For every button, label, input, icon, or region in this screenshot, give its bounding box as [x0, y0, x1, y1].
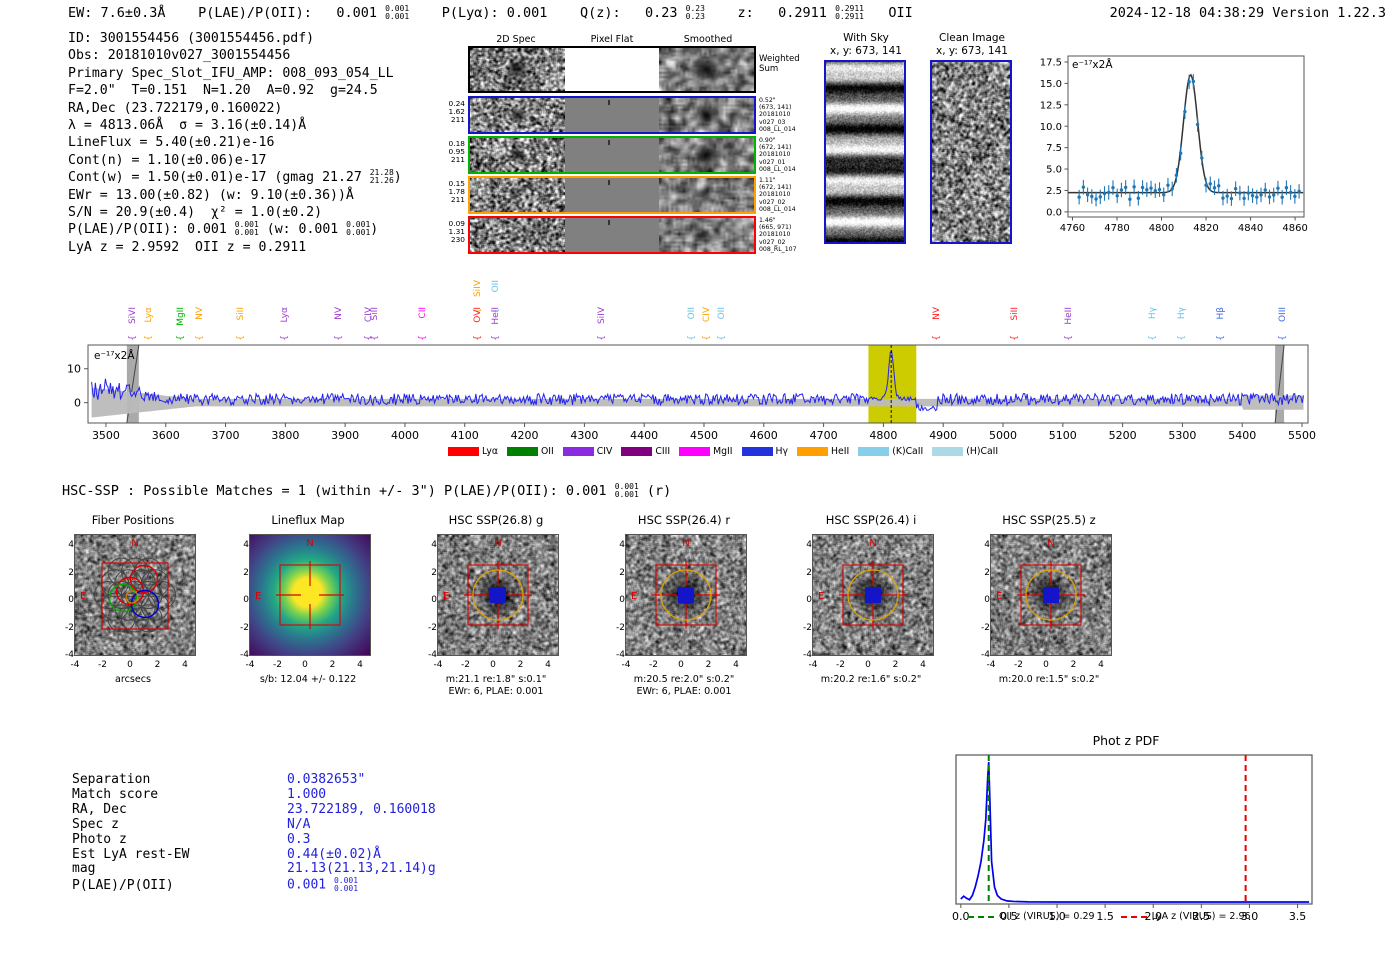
cutout-xtick: 2	[703, 660, 715, 670]
photz-pdf-panel: Phot z PDF 0.00.51.01.52.02.53.03.5 OII …	[932, 733, 1320, 948]
cutout-ytick: 4	[423, 540, 437, 550]
header-plya: P(Lyα): 0.001	[442, 5, 548, 21]
info-line-lineflux: LineFlux = 5.40(±0.21)e-16	[68, 134, 402, 151]
hsc-headline: HSC-SSP : Possible Matches = 1 (within +…	[62, 483, 671, 499]
spec2d-row-left-labels: 0.151.78211	[428, 180, 465, 204]
cutout-xtick: -2	[1013, 660, 1025, 670]
emission-line-label: NV	[195, 307, 205, 320]
spec2d-montage: 2D Spec Pixel Flat Smoothed Weighted Sum…	[428, 34, 773, 254]
cutout-ytick: 2	[423, 568, 437, 578]
cutout-xtick: 0	[124, 660, 136, 670]
col-header-2dspec: 2D Spec	[468, 34, 564, 45]
photz-title: Phot z PDF	[932, 733, 1320, 748]
header-z-value: 0.2911	[778, 5, 827, 21]
cutout-xtick: -2	[835, 660, 847, 670]
svg-text:4600: 4600	[750, 429, 778, 442]
cutout-ytick: -4	[798, 650, 812, 660]
header-plae-value: 0.001	[336, 5, 377, 21]
emission-line-label: MgII	[176, 307, 186, 326]
emission-line-label: Hγ	[1177, 307, 1187, 319]
emission-line-bracket-icon: {	[932, 335, 942, 341]
emission-line-bracket-icon: {	[280, 335, 290, 341]
cutout-xtick: -2	[648, 660, 660, 670]
cutout-image[interactable]	[625, 534, 747, 656]
match-table-key: P(LAE)/P(OII)	[72, 879, 287, 894]
svg-text:5500: 5500	[1288, 429, 1316, 442]
legend-item: CIV	[563, 446, 613, 457]
panel-caption: m:20.5 re:2.0" s:0.2"EWr: 6, PLAE: 0.001	[603, 674, 765, 698]
legend-item: Hγ	[742, 446, 789, 457]
match-table-row: P(LAE)/P(OII)0.001 0.0010.001	[72, 877, 436, 893]
col-header-smoothed: Smoothed	[660, 34, 756, 45]
header-plae-range: 0.0010.001	[385, 5, 409, 21]
match-table-row: Est LyA rest-EW0.44(±0.02)Å	[72, 848, 436, 863]
emission-line-label: SiII	[236, 307, 246, 321]
cutout-xtick: -2	[460, 660, 472, 670]
match-table-value: 23.722189, 0.160018	[287, 802, 436, 817]
legend-swatch	[621, 447, 652, 456]
emission-line-bracket-icon: {	[687, 335, 697, 341]
cutout-xtick: 0	[862, 660, 874, 670]
legend-item: (K)CaII	[858, 446, 923, 457]
photz-legend-label: LyA z (VIRUS) = 2.96	[1152, 911, 1251, 922]
photz-legend-item: OII z (VIRUS) = 0.29	[968, 911, 1095, 922]
spec2d-row[interactable]	[468, 216, 756, 254]
cutout-xtick: 4	[179, 660, 191, 670]
match-table-value: 0.001	[287, 878, 334, 893]
match-table-key: mag	[72, 862, 287, 877]
match-table-key: Est LyA rest-EW	[72, 848, 287, 863]
info-line-id: ID: 3001554456 (3001554456.pdf)	[68, 30, 402, 47]
cutout-xtick: 4	[354, 660, 366, 670]
panel-title: HSC SSP(26.4) i	[800, 513, 942, 527]
header-qz-label: Q(z):	[580, 5, 621, 21]
match-table-row: mag21.13(21.13,21.14)g	[72, 862, 436, 877]
svg-text:e⁻¹⁷x2Å: e⁻¹⁷x2Å	[94, 349, 135, 362]
svg-text:4800: 4800	[869, 429, 897, 442]
emission-line-bracket-icon: {	[144, 335, 154, 341]
panel-caption: m:20.2 re:1.6" s:0.2"	[790, 674, 952, 686]
spec2d-row-left-labels: 0.180.95211	[428, 140, 465, 164]
match-table-key: Spec z	[72, 818, 287, 833]
cutout-ytick: 4	[235, 540, 249, 550]
cutout-ytick: 2	[976, 568, 990, 578]
header-qz-range: 0.230.23	[686, 5, 705, 21]
panel-title: HSC SSP(26.8) g	[425, 513, 567, 527]
svg-text:4500: 4500	[690, 429, 718, 442]
legend-label: CIII	[655, 446, 670, 457]
info-line-ewr: EWr = 13.00(±0.82) (w: 9.10(±0.36))Å	[68, 187, 402, 204]
svg-text:3500: 3500	[92, 429, 120, 442]
svg-text:10: 10	[67, 363, 81, 376]
legend-item: (H)CaII	[932, 446, 998, 457]
cutout-ytick: 0	[423, 595, 437, 605]
svg-text:15.0: 15.0	[1040, 79, 1062, 90]
panel-caption: s/b: 12.04 +/- 0.122	[227, 674, 389, 686]
emission-line-label: OII	[717, 307, 727, 319]
spec2d-cell-raw	[470, 138, 565, 172]
cutout-xtick: -2	[97, 660, 109, 670]
spec2d-cell-pixelflat	[565, 138, 660, 172]
emission-line-bracket-icon: {	[1010, 335, 1020, 341]
withsky-cutout[interactable]	[824, 60, 906, 244]
legend-swatch	[563, 447, 594, 456]
cutout-ytick: 2	[798, 568, 812, 578]
cutout-xtick: -4	[69, 660, 81, 670]
match-table-value: 0.44(±0.02)Å	[287, 847, 381, 862]
svg-text:4820: 4820	[1193, 223, 1218, 234]
emission-line-bracket-icon: {	[597, 335, 607, 341]
spec2d-row[interactable]	[468, 136, 756, 174]
emission-line-bracket-icon: {	[717, 335, 727, 341]
cutout-ytick: 0	[611, 595, 625, 605]
info-line-redshifts: LyA z = 2.9592 OII z = 0.2911	[68, 239, 402, 256]
svg-text:e⁻¹⁷x2Å: e⁻¹⁷x2Å	[1072, 58, 1113, 71]
legend-swatch	[507, 447, 538, 456]
emission-line-label: Lyα	[144, 307, 154, 322]
spec2d-cell-smoothed	[659, 98, 754, 132]
match-table-key: Match score	[72, 788, 287, 803]
cutout-ytick: -4	[611, 650, 625, 660]
photz-legend: OII z (VIRUS) = 0.29LyA z (VIRUS) = 2.96	[968, 911, 1251, 922]
cutout-xtick: 0	[299, 660, 311, 670]
panel-title: Fiber Positions	[62, 513, 204, 527]
svg-text:3.5: 3.5	[1289, 910, 1307, 923]
photz-legend-dash	[1121, 916, 1147, 918]
info-line-params: F=2.0" T=0.151 N=1.20 A=0.92 g=24.5	[68, 82, 402, 99]
emission-line-label: HeII	[491, 307, 501, 325]
legend-swatch	[797, 447, 828, 456]
full-spectrum-plot[interactable]: 0103500360037003800390040004100420043004…	[0, 275, 1400, 465]
cutout-xtick: -4	[432, 660, 444, 670]
cutout-ytick: 4	[976, 540, 990, 550]
spec2d-row[interactable]	[468, 176, 756, 214]
emission-line-label: SiIV	[473, 280, 483, 297]
match-table-value: 21.13(21.13,21.14)g	[287, 861, 436, 876]
emission-line-label: NV	[334, 307, 344, 320]
spec2d-cell-pixelflat	[565, 98, 660, 132]
spec2d-cell-raw	[470, 98, 565, 132]
emission-line-bracket-icon: {	[1064, 335, 1074, 341]
cutout-ytick: -4	[423, 650, 437, 660]
panel-title: HSC SSP(26.4) r	[613, 513, 755, 527]
spec2d-row-left-labels: 0.241.62211	[428, 100, 465, 124]
svg-text:0.0: 0.0	[952, 910, 970, 923]
emission-line-bracket-icon: {	[364, 335, 374, 341]
svg-text:4900: 4900	[929, 429, 957, 442]
cutout-xtick: 0	[487, 660, 499, 670]
info-line-obs: Obs: 20181010v027_3001554456	[68, 47, 402, 64]
match-table-key: Photo z	[72, 833, 287, 848]
emission-line-label: CIV	[702, 307, 712, 322]
source-info-block: ID: 3001554456 (3001554456.pdf) Obs: 201…	[68, 30, 402, 256]
cleanimage-title: Clean Imagex, y: 673, 141	[924, 32, 1020, 57]
spec2d-row-right-labels: 1.11"(672, 141)20181010v027_02008_LL_014	[759, 177, 829, 213]
cutout-ytick: -4	[976, 650, 990, 660]
cutout-xtick: 4	[542, 660, 554, 670]
svg-text:3800: 3800	[271, 429, 299, 442]
spec2d-cell-raw	[470, 218, 565, 252]
svg-text:0.0: 0.0	[1046, 207, 1062, 218]
svg-text:2.5: 2.5	[1046, 186, 1062, 197]
emission-line-bracket-icon: {	[491, 335, 501, 341]
spec2d-cell-smoothed	[659, 138, 754, 172]
panel-caption: arcsecs	[52, 674, 214, 686]
svg-text:4860: 4860	[1282, 223, 1307, 234]
info-line-plae: P(LAE)/P(OII): 0.001 0.0010.001 (w: 0.00…	[68, 221, 402, 238]
legend-label: Lyα	[482, 446, 498, 457]
svg-text:17.5: 17.5	[1040, 58, 1062, 69]
panel-title: HSC SSP(25.5) z	[978, 513, 1120, 527]
cutout-xtick: -4	[807, 660, 819, 670]
legend-swatch	[679, 447, 710, 456]
legend-label: HeII	[831, 446, 849, 457]
cutout-ytick: 4	[798, 540, 812, 550]
cutout-xtick: 4	[730, 660, 742, 670]
match-table-key: RA, Dec	[72, 803, 287, 818]
emission-line-label: OIII	[1278, 307, 1288, 322]
emission-line-bracket-icon: {	[1148, 335, 1158, 341]
cleanimage-cutout[interactable]	[930, 60, 1012, 244]
emission-line-bracket-icon: {	[236, 335, 246, 341]
info-line-contw: Cont(w) = 1.50(±0.01)e-17 (gmag 21.27 21…	[68, 169, 402, 186]
info-line-radec: RA,Dec (23.722179,0.160022)	[68, 100, 402, 117]
cutout-ytick: 0	[798, 595, 812, 605]
spec2d-cell-pixelflat	[565, 218, 660, 252]
emission-line-label: HeII	[1064, 307, 1074, 325]
svg-text:5200: 5200	[1109, 429, 1137, 442]
svg-text:7.5: 7.5	[1046, 143, 1062, 154]
cutout-xtick: 4	[917, 660, 929, 670]
line-profile-plot[interactable]: 17.515.012.510.07.55.02.50.0476047804800…	[1022, 42, 1312, 247]
header-z-label: z:	[737, 5, 753, 21]
cutout-image[interactable]	[990, 534, 1112, 656]
weighted-sum-label: Weighted Sum	[759, 54, 800, 74]
emission-line-label: Hγ	[1148, 307, 1158, 319]
legend-item: MgII	[679, 446, 732, 457]
legend-swatch	[448, 447, 479, 456]
legend-item: CIII	[621, 446, 670, 457]
emission-line-label: CIV	[364, 307, 374, 322]
svg-text:0: 0	[74, 397, 81, 410]
panel-caption: m:20.0 re:1.5" s:0.2"	[968, 674, 1130, 686]
svg-text:3900: 3900	[331, 429, 359, 442]
cutout-xtick: -4	[620, 660, 632, 670]
cutout-ytick: -2	[60, 623, 74, 633]
spec2d-cell-smoothed	[659, 178, 754, 212]
match-table-row: Match score1.000	[72, 788, 436, 803]
emission-line-bracket-icon: {	[334, 335, 344, 341]
svg-text:5100: 5100	[1049, 429, 1077, 442]
emission-line-bracket-icon: {	[128, 335, 138, 341]
photz-pdf-chart[interactable]: 0.00.51.01.52.02.53.03.5	[932, 747, 1320, 932]
cutout-ytick: 0	[60, 595, 74, 605]
svg-text:4000: 4000	[391, 429, 419, 442]
emission-line-label: OII	[687, 307, 697, 319]
cutout-image[interactable]	[74, 534, 196, 656]
emission-line-bracket-icon: {	[1216, 335, 1226, 341]
emission-line-bracket-icon: {	[176, 335, 186, 341]
cutout-xtick: 2	[515, 660, 527, 670]
emission-line-label: CII	[418, 307, 428, 319]
withsky-title: With Skyx, y: 673, 141	[818, 32, 914, 57]
emission-line-label: NV	[932, 307, 942, 320]
photz-legend-label: OII z (VIRUS) = 0.29	[999, 911, 1095, 922]
match-table-row: Photo z0.3	[72, 833, 436, 848]
legend-item: HeII	[797, 446, 849, 457]
cutout-ytick: 2	[235, 568, 249, 578]
spec2d-cell-pixelflat	[565, 178, 660, 212]
svg-text:3700: 3700	[212, 429, 240, 442]
header-ew: EW: 7.6±0.3Å	[68, 5, 166, 21]
legend-swatch	[858, 447, 889, 456]
panel-caption: m:21.1 re:1.8" s:0.1"EWr: 6, PLAE: 0.001	[415, 674, 577, 698]
match-table-value: 1.000	[287, 787, 326, 802]
match-table-row: Separation0.0382653"	[72, 773, 436, 788]
svg-text:4760: 4760	[1060, 223, 1085, 234]
cutout-xtick: 4	[1095, 660, 1107, 670]
emission-line-label: Hβ	[1216, 307, 1226, 320]
svg-text:4800: 4800	[1149, 223, 1174, 234]
emission-line-label: Lyα	[280, 307, 290, 322]
cutout-ytick: 4	[611, 540, 625, 550]
cutout-ytick: 0	[235, 595, 249, 605]
emission-line-label: SiVI	[128, 307, 138, 324]
emission-line-label: SiII	[1010, 307, 1020, 321]
weighted-sum-strip	[468, 46, 756, 93]
svg-text:4400: 4400	[630, 429, 658, 442]
match-table-value: 0.3	[287, 832, 310, 847]
cutout-xtick: 2	[890, 660, 902, 670]
cutout-ytick: -4	[60, 650, 74, 660]
match-table-value: N/A	[287, 817, 310, 832]
emission-line-bracket-icon: {	[473, 335, 483, 341]
legend-label: MgII	[713, 446, 732, 457]
cutout-xtick: -2	[272, 660, 284, 670]
spec2d-row-right-labels: 0.52"(673, 141)20181010v027_03008_LL_014	[759, 97, 829, 133]
match-table-value: 0.0382653"	[287, 772, 365, 787]
spec2d-row-left-labels: 0.091.31230	[428, 220, 465, 244]
cutout-xtick: 0	[675, 660, 687, 670]
cutout-ytick: 2	[60, 568, 74, 578]
cutout-ytick: 4	[60, 540, 74, 550]
cutout-ytick: 0	[976, 595, 990, 605]
timestamp-version: 2024-12-18 04:38:29 Version 1.22.3	[1110, 5, 1386, 21]
svg-text:4300: 4300	[570, 429, 598, 442]
header-z-species: OII	[888, 5, 912, 21]
legend-label: (K)CaII	[892, 446, 923, 457]
cutout-ytick: 2	[611, 568, 625, 578]
emission-line-bracket-icon: {	[702, 335, 712, 341]
cutout-xtick: -4	[244, 660, 256, 670]
svg-text:4100: 4100	[451, 429, 479, 442]
svg-text:4780: 4780	[1104, 223, 1129, 234]
svg-text:4840: 4840	[1238, 223, 1263, 234]
info-line-sn: S/N = 20.9(±0.4) χ² = 1.0(±0.2)	[68, 204, 402, 221]
svg-text:5300: 5300	[1168, 429, 1196, 442]
emission-line-bracket-icon: {	[418, 335, 428, 341]
legend-item: OII	[507, 446, 554, 457]
emission-line-bracket-icon: {	[1278, 335, 1288, 341]
col-header-pixelflat: Pixel Flat	[564, 34, 660, 45]
cutout-image[interactable]	[249, 534, 371, 656]
spec2d-row-right-labels: 0.90"(672, 141)20181010v027_01008_LL_014	[759, 137, 829, 173]
match-table-row: Spec zN/A	[72, 818, 436, 833]
match-table-row: RA, Dec23.722189, 0.160018	[72, 803, 436, 818]
cutout-xtick: 2	[152, 660, 164, 670]
cutout-xtick: 2	[327, 660, 339, 670]
svg-text:3600: 3600	[152, 429, 180, 442]
header-qz-value: 0.23	[645, 5, 678, 21]
svg-text:5.0: 5.0	[1046, 165, 1062, 176]
legend-label: OII	[541, 446, 554, 457]
legend-item: Lyα	[448, 446, 498, 457]
info-line-lambda: λ = 4813.06Å σ = 3.16(±0.14)Å	[68, 117, 402, 134]
svg-text:5000: 5000	[989, 429, 1017, 442]
legend-label: (H)CaII	[966, 446, 998, 457]
header-summary-line: EW: 7.6±0.3Å P(LAE)/P(OII): 0.001 0.0010…	[68, 5, 913, 21]
svg-text:12.5: 12.5	[1040, 100, 1062, 111]
full-spectrum-panel: SiVI{Lyα{MgII{NV{SiII{Lyα{NV{SiII{CIV{CI…	[0, 275, 1400, 465]
legend-swatch	[932, 447, 963, 456]
cutout-ytick: -2	[611, 623, 625, 633]
spectrum-legend: LyαOIICIVCIIIMgIIHγHeII(K)CaII(H)CaII	[448, 446, 998, 457]
emission-line-bracket-icon: {	[1177, 335, 1187, 341]
emission-line-bracket-icon: {	[195, 335, 205, 341]
panel-title: Lineflux Map	[237, 513, 379, 527]
spec2d-row-right-labels: 1.46"(665, 971)20181010v027_02008_RL_107	[759, 217, 829, 253]
legend-label: CIV	[597, 446, 613, 457]
info-line-specslot: Primary Spec_Slot_IFU_AMP: 008_093_054_L…	[68, 65, 402, 82]
emission-line-label: OVI	[473, 307, 483, 323]
spec2d-cell-smoothed	[659, 218, 754, 252]
svg-text:4200: 4200	[511, 429, 539, 442]
spec2d-row[interactable]	[468, 96, 756, 134]
cutout-image[interactable]	[812, 534, 934, 656]
photz-legend-item: LyA z (VIRUS) = 2.96	[1121, 911, 1251, 922]
cutout-ytick: -2	[235, 623, 249, 633]
legend-label: Hγ	[776, 446, 789, 457]
emission-line-label: OII	[491, 280, 501, 292]
svg-text:10.0: 10.0	[1040, 122, 1062, 133]
header-plae-label: P(LAE)/P(OII):	[198, 5, 312, 21]
cutout-xtick: -4	[985, 660, 997, 670]
spec2d-cell-raw	[470, 178, 565, 212]
cutout-xtick: 2	[1068, 660, 1080, 670]
cutout-ytick: -4	[235, 650, 249, 660]
match-table-key: Separation	[72, 773, 287, 788]
cutout-ytick: -2	[423, 623, 437, 633]
header-z-range: 0.29110.2911	[835, 5, 864, 21]
info-line-contn: Cont(n) = 1.10(±0.06)e-17	[68, 152, 402, 169]
cutout-ytick: -2	[976, 623, 990, 633]
emission-line-label: SiIV	[597, 307, 607, 324]
photz-legend-dash	[968, 916, 994, 918]
cutout-image[interactable]	[437, 534, 559, 656]
svg-text:5400: 5400	[1228, 429, 1256, 442]
cutout-xtick: 0	[1040, 660, 1052, 670]
match-detail-table: Separation0.0382653"Match score1.000RA, …	[72, 773, 436, 894]
legend-swatch	[742, 447, 773, 456]
svg-text:4700: 4700	[810, 429, 838, 442]
cutout-ytick: -2	[798, 623, 812, 633]
